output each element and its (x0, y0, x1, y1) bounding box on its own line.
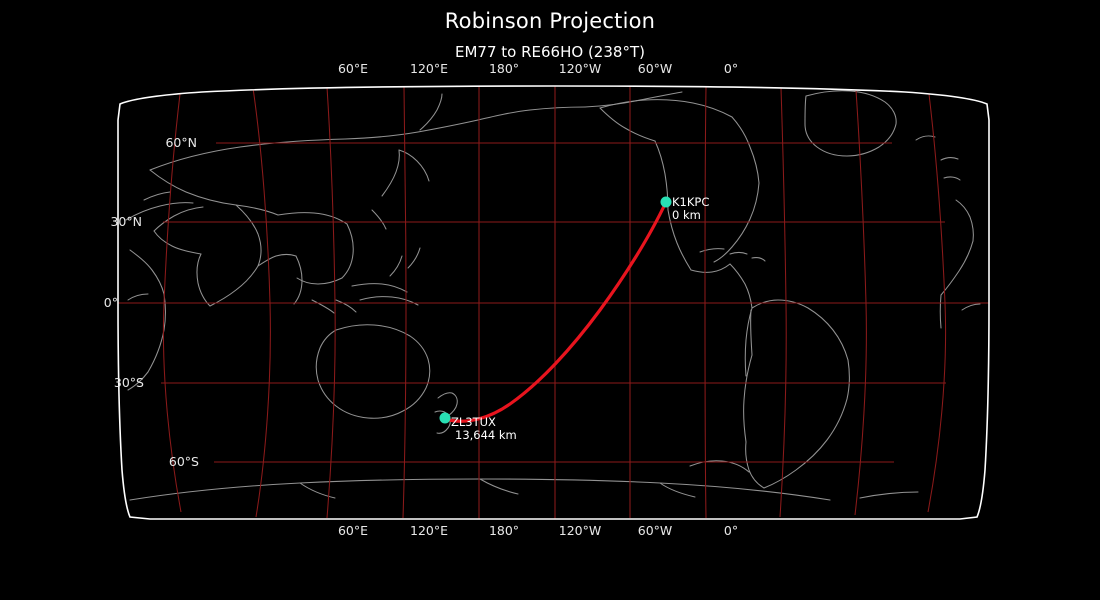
great-circle-path (449, 202, 666, 421)
lat-tick-1: 30°N (110, 215, 142, 229)
lat-tick-3: 30°S (114, 376, 144, 390)
station-marker-zl3tux[interactable] (440, 413, 451, 424)
lon-tick-top-2: 180° (489, 62, 519, 76)
graticule-meridians (163, 86, 945, 519)
lon-tick-top-5: 0° (724, 62, 738, 76)
map-plot (0, 0, 1100, 600)
station-distance-zl3tux: 13,644 km (455, 429, 517, 442)
graticule-parallels (118, 143, 989, 462)
lon-tick-top-4: 60°W (638, 62, 673, 76)
lat-tick-2: 0° (104, 296, 118, 310)
lon-tick-bottom-5: 0° (724, 524, 738, 538)
lon-tick-top-3: 120°W (559, 62, 601, 76)
lat-tick-0: 60°N (165, 136, 197, 150)
map-boundary (118, 86, 989, 519)
robinson-map-svg (0, 0, 1100, 600)
lon-tick-bottom-1: 120°E (410, 524, 448, 538)
lon-tick-bottom-2: 180° (489, 524, 519, 538)
figure-canvas: Robinson Projection EM77 to RE66HO (238°… (0, 0, 1100, 600)
coastlines-antarctica (130, 461, 918, 500)
lon-tick-top-1: 120°E (410, 62, 448, 76)
coastlines-layer (126, 92, 682, 433)
lon-tick-bottom-3: 120°W (559, 524, 601, 538)
lon-tick-top-0: 60°E (338, 62, 368, 76)
lon-tick-bottom-4: 60°W (638, 524, 673, 538)
chart-subtitle: EM77 to RE66HO (238°T) (0, 42, 1100, 62)
station-marker-k1kpc[interactable] (661, 197, 672, 208)
page-title: Robinson Projection (0, 8, 1100, 34)
lon-tick-bottom-0: 60°E (338, 524, 368, 538)
map-face (100, 80, 1010, 530)
coastlines-americas (600, 91, 980, 488)
station-distance-k1kpc: 0 km (672, 209, 701, 222)
lat-tick-4: 60°S (169, 455, 199, 469)
